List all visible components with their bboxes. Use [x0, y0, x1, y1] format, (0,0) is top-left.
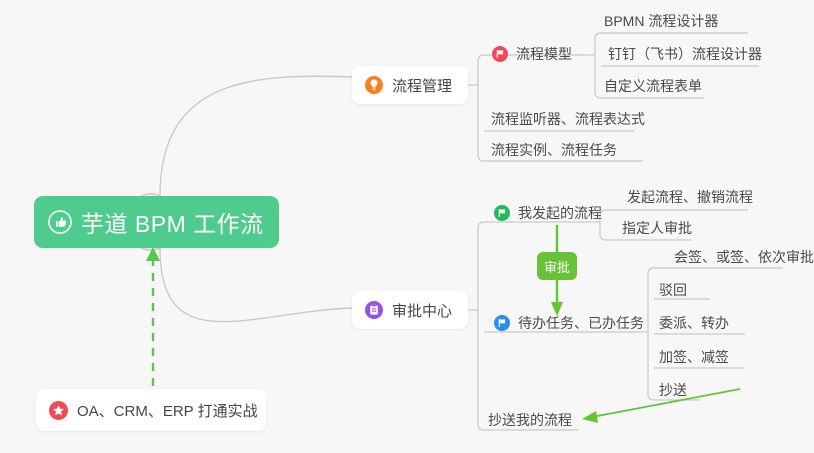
integration-card-label: OA、CRM、ERP 打通实战: [77, 400, 258, 421]
leaf-label: 抄送我的流程: [488, 413, 572, 427]
leaf-node-my-initiated-process[interactable]: 我发起的流程: [494, 205, 602, 221]
leaf-label: 流程模型: [516, 47, 572, 61]
leaf-label: 抄送: [659, 383, 687, 397]
root-label: 芋道 BPM 工作流: [81, 205, 264, 239]
lightbulb-icon: [365, 76, 383, 94]
leaf-label: 指定人审批: [622, 221, 692, 235]
clipboard-icon: [365, 301, 383, 319]
approval-badge: 审批: [537, 252, 577, 280]
leaf-label: 流程监听器、流程表达式: [491, 112, 645, 126]
leaf-label: 发起流程、撤销流程: [627, 190, 753, 204]
leaf-node-cc-to-me[interactable]: 抄送我的流程: [488, 413, 572, 427]
leaf-node-add-remove-sign[interactable]: 加签、减签: [659, 350, 729, 364]
leaf-node-cc[interactable]: 抄送: [659, 383, 687, 397]
thumbs-up-icon: [48, 210, 72, 234]
leaf-node-start-cancel-process[interactable]: 发起流程、撤销流程: [627, 190, 753, 204]
branch-label: 审批中心: [392, 300, 452, 321]
leaf-label: 委派、转办: [659, 316, 729, 330]
leaf-node-custom-form[interactable]: 自定义流程表单: [604, 79, 702, 93]
leaf-label: 流程实例、流程任务: [491, 143, 617, 157]
leaf-label: 待办任务、已办任务: [518, 316, 644, 330]
leaf-node-countersign[interactable]: 会签、或签、依次审批: [674, 250, 814, 264]
leaf-label: 钉钉（飞书）流程设计器: [608, 47, 762, 61]
branch-label: 流程管理: [392, 75, 452, 96]
leaf-label: 驳回: [659, 283, 687, 297]
leaf-label: 我发起的流程: [518, 206, 602, 220]
flag-icon: [494, 315, 510, 331]
branch-node-approval-center[interactable]: 审批中心: [352, 291, 468, 329]
leaf-label: BPMN 流程设计器: [604, 14, 718, 28]
leaf-node-process-listener[interactable]: 流程监听器、流程表达式: [491, 112, 645, 126]
leaf-node-todo-done-tasks[interactable]: 待办任务、已办任务: [494, 315, 644, 331]
leaf-node-reject[interactable]: 驳回: [659, 283, 687, 297]
leaf-node-process-instance[interactable]: 流程实例、流程任务: [491, 143, 617, 157]
leaf-label: 加签、减签: [659, 350, 729, 364]
leaf-node-dingtalk-designer[interactable]: 钉钉（飞书）流程设计器: [608, 47, 762, 61]
leaf-node-delegate-transfer[interactable]: 委派、转办: [659, 316, 729, 330]
root-node[interactable]: 芋道 BPM 工作流: [34, 196, 279, 248]
leaf-node-bpmn-designer[interactable]: BPMN 流程设计器: [604, 14, 718, 28]
flag-icon: [494, 205, 510, 221]
flag-icon: [492, 46, 508, 62]
integration-card[interactable]: OA、CRM、ERP 打通实战: [36, 389, 266, 431]
star-icon: [49, 401, 68, 420]
mindmap-canvas: 芋道 BPM 工作流 流程管理 审批中心: [0, 0, 814, 453]
branch-node-process-management[interactable]: 流程管理: [352, 66, 468, 104]
approval-badge-label: 审批: [544, 257, 570, 276]
leaf-label: 自定义流程表单: [604, 79, 702, 93]
leaf-node-process-model[interactable]: 流程模型: [492, 46, 572, 62]
leaf-label: 会签、或签、依次审批: [674, 250, 814, 264]
leaf-node-assigned-approval[interactable]: 指定人审批: [622, 221, 692, 235]
